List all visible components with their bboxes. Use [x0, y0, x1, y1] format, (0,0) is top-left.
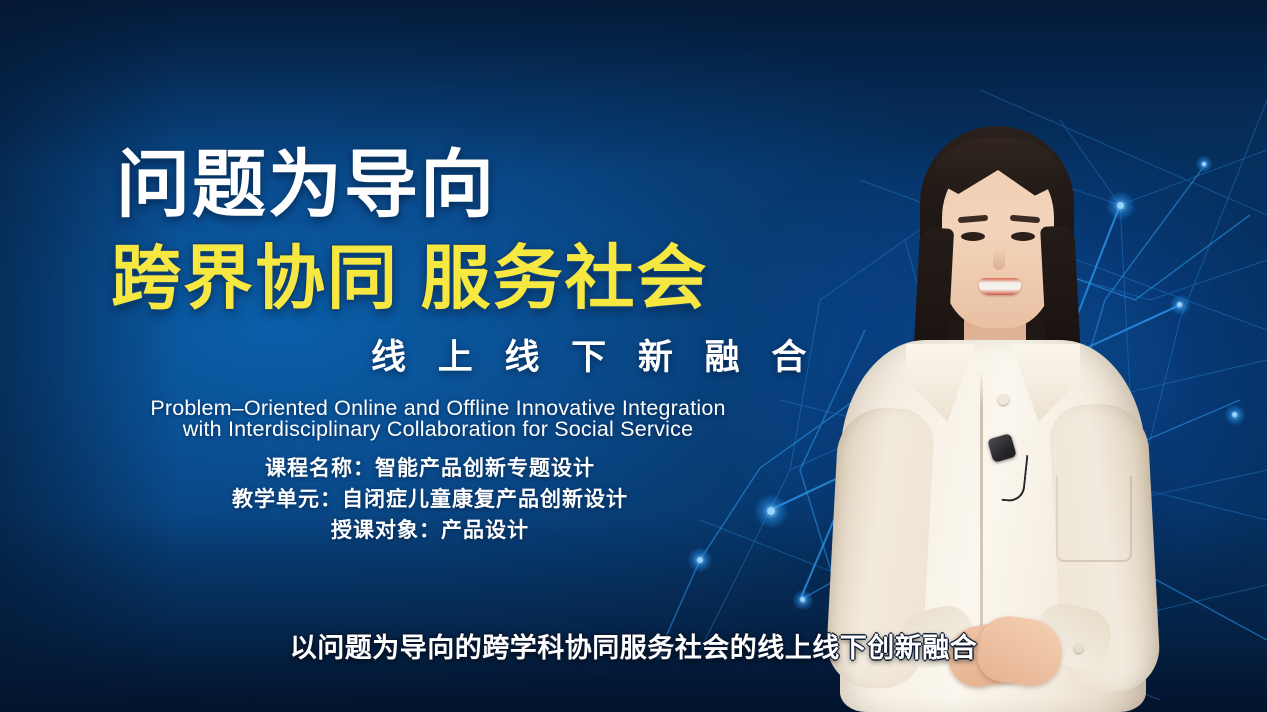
- mouth: [979, 278, 1021, 295]
- teaching-unit-line: 教学单元：自闭症儿童康复产品创新设计: [100, 484, 760, 515]
- title-line-2: 跨界协同 服务社会: [111, 243, 708, 313]
- collar-button: [998, 394, 1009, 405]
- eye-right: [1011, 232, 1035, 241]
- subtitle-english: Problem–Oriented Online and Offline Inno…: [114, 398, 762, 440]
- presenter-figure: [828, 108, 1158, 712]
- eye-left: [961, 232, 985, 241]
- audience-line: 授课对象：产品设计: [100, 515, 760, 546]
- title-line-3: 线 上 线 下 新 融 合: [371, 340, 817, 375]
- title-block: 问题为导向 跨界协同 服务社会 线 上 线 下 新 融 合 Problem–Or…: [0, 0, 840, 712]
- course-name-line: 课程名称：智能产品创新专题设计: [100, 453, 760, 484]
- title-line-1: 问题为导向: [116, 148, 496, 222]
- network-node: [1202, 162, 1206, 166]
- nose: [993, 248, 1005, 270]
- network-node: [1232, 412, 1237, 417]
- video-slide: 问题为导向 跨界协同 服务社会 线 上 线 下 新 融 合 Problem–Or…: [0, 0, 1267, 712]
- subtitle-caption: 以问题为导向的跨学科协同服务社会的线上线下创新融合: [0, 631, 1267, 665]
- subtitle-english-line-1: Problem–Oriented Online and Offline Inno…: [114, 398, 762, 419]
- subtitle-english-line-2: with Interdisciplinary Collaboration for…: [114, 419, 762, 440]
- course-info-block: 课程名称：智能产品创新专题设计 教学单元：自闭症儿童康复产品创新设计 授课对象：…: [100, 453, 760, 546]
- shirt-pocket: [1056, 476, 1132, 562]
